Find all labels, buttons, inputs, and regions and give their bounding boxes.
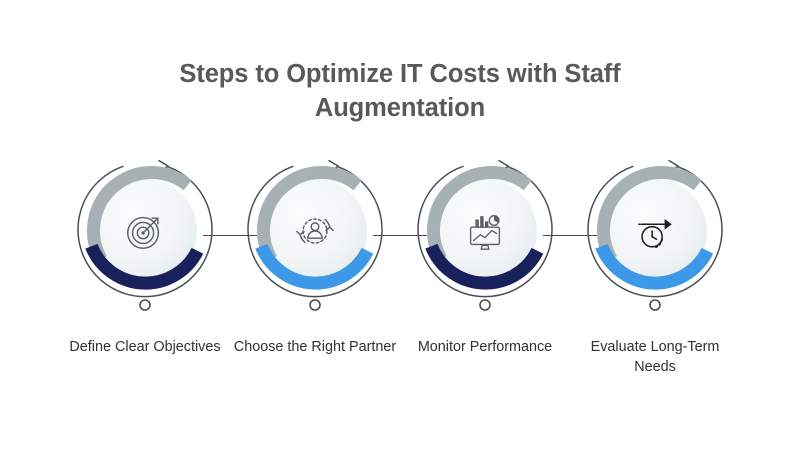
step-label-2: Choose the Right Partner: [231, 337, 399, 357]
progress-marker-dot: [310, 300, 320, 310]
progress-marker-dot: [650, 300, 660, 310]
step-item-2[interactable]: Choose the Right Partner: [230, 157, 400, 357]
progress-marker-dot: [140, 300, 150, 310]
progress-marker-dot: [480, 300, 490, 310]
steps-row: Define Clear Objectives: [0, 157, 800, 367]
step-node-4[interactable]: [581, 157, 729, 313]
page-title: Steps to Optimize IT Costs with Staff Au…: [155, 58, 645, 125]
step-label-1: Define Clear Objectives: [61, 337, 229, 357]
step-label-4: Evaluate Long-Term Needs: [571, 337, 739, 378]
step-label-3: Monitor Performance: [401, 337, 569, 357]
step-item-1[interactable]: Define Clear Objectives: [60, 157, 230, 357]
step-node-1[interactable]: [71, 157, 219, 313]
step-item-4[interactable]: Evaluate Long-Term Needs: [570, 157, 740, 378]
step-node-3[interactable]: [411, 157, 559, 313]
infographic-canvas: Steps to Optimize IT Costs with Staff Au…: [0, 0, 800, 454]
step-node-2[interactable]: [241, 157, 389, 313]
step-item-3[interactable]: Monitor Performance: [400, 157, 570, 357]
